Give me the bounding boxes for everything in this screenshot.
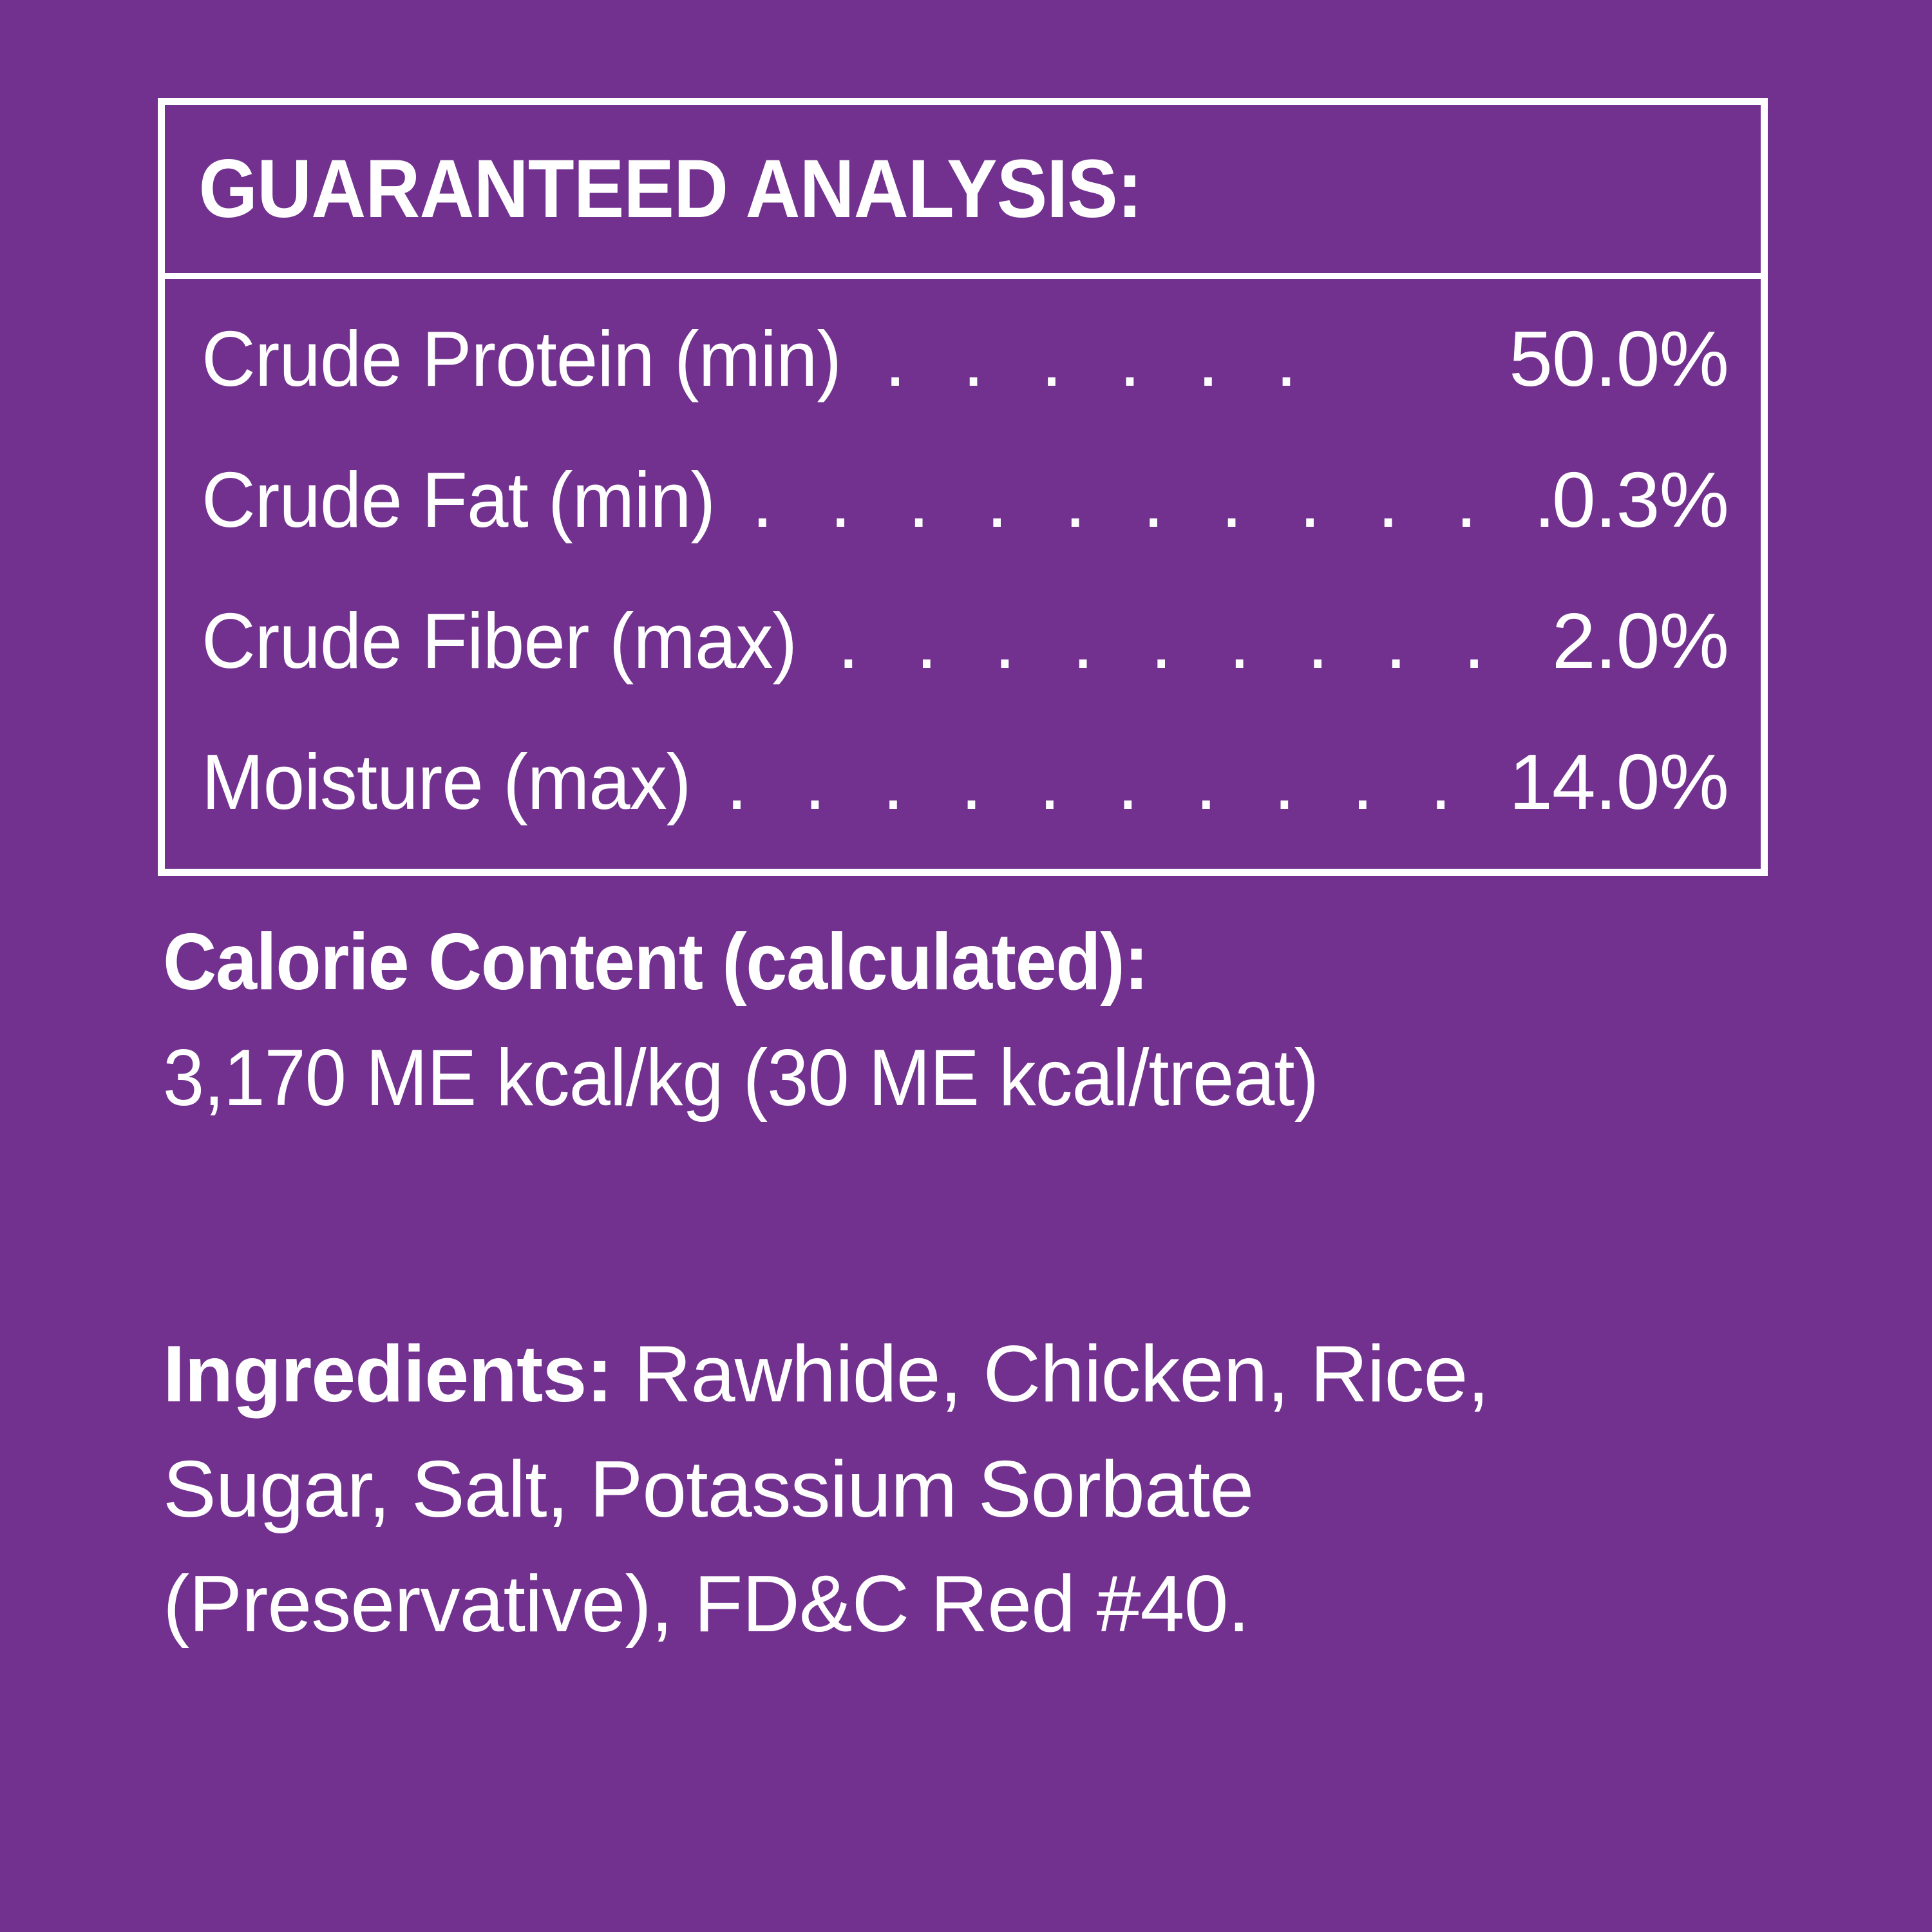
calorie-content-heading: Calorie Content (calculated):: [163, 922, 1696, 1002]
ingredients-section: Ingredients: Rawhide, Chicken, Rice, Sug…: [163, 1317, 1721, 1662]
guaranteed-analysis-heading: GUARANTEED ANALYSIS:: [165, 148, 1142, 231]
leader-dots: . . . . . .: [875, 319, 1509, 398]
calorie-content-section: Calorie Content (calculated): 3,170 ME k…: [163, 922, 1812, 1118]
nutrient-label: Moisture (max): [202, 743, 690, 821]
table-row: Moisture (max) . . . . . . . . . . . 14.…: [165, 711, 1761, 852]
nutrient-label: Crude Fiber (max): [202, 601, 797, 680]
nutrient-value: 0.3%: [1552, 460, 1728, 539]
nutrient-value: 50.0%: [1509, 319, 1728, 398]
table-row: Crude Protein (min) . . . . . . 50.0%: [165, 288, 1761, 429]
guaranteed-analysis-rows: Crude Protein (min) . . . . . . 50.0% Cr…: [165, 279, 1761, 869]
calorie-content-value: 3,170 ME kcal/kg (30 ME kcal/treat): [163, 1038, 1696, 1118]
pet-food-label: GUARANTEED ANALYSIS: Crude Protein (min)…: [0, 0, 1932, 1932]
nutrient-value: 2.0%: [1552, 601, 1728, 680]
leader-dots: . . . . . . . . . . .: [742, 460, 1552, 539]
leader-dots: . . . . . . . . .: [828, 601, 1552, 680]
guaranteed-analysis-box: GUARANTEED ANALYSIS: Crude Protein (min)…: [158, 98, 1768, 876]
nutrient-label: Crude Protein (min): [202, 319, 841, 398]
table-row: Crude Fiber (max) . . . . . . . . . 2.0%: [165, 570, 1761, 711]
ingredients-label: Ingredients:: [163, 1330, 612, 1419]
leader-dots: . . . . . . . . . . .: [716, 743, 1509, 821]
table-row: Crude Fat (min) . . . . . . . . . . . 0.…: [165, 429, 1761, 570]
guaranteed-analysis-header: GUARANTEED ANALYSIS:: [165, 105, 1761, 279]
nutrient-value: 14.0%: [1509, 743, 1728, 821]
nutrient-label: Crude Fat (min): [202, 460, 715, 539]
